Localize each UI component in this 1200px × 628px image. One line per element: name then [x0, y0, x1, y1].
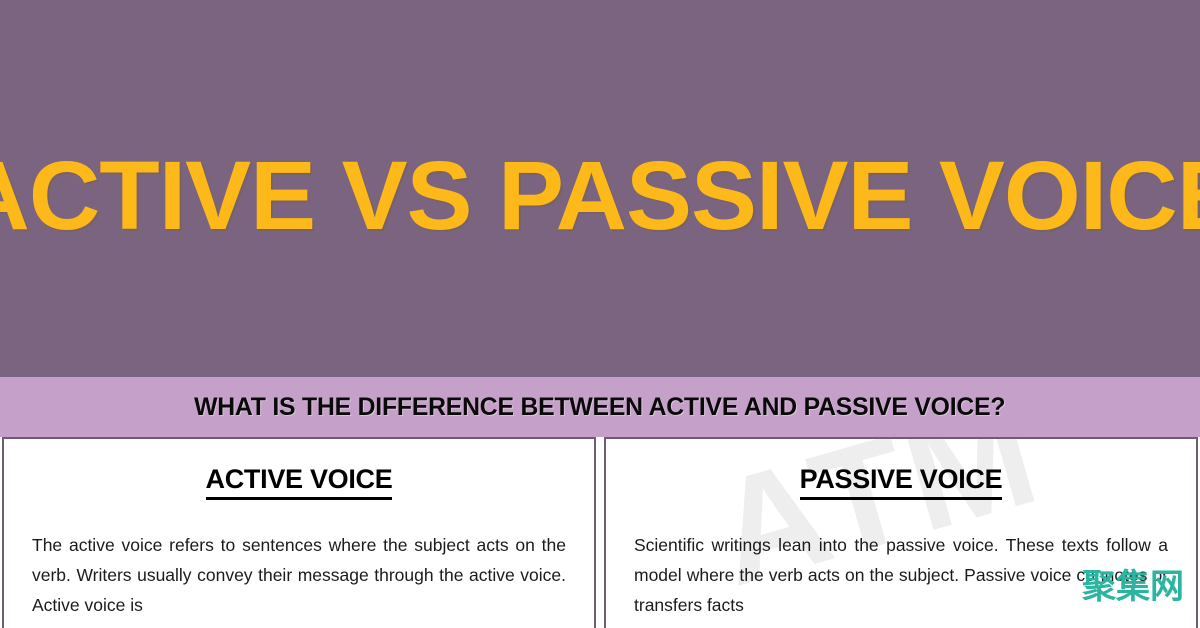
- subtitle-question: WHAT IS THE DIFFERENCE BETWEEN ACTIVE AN…: [194, 395, 1005, 420]
- card-passive-voice: ATM PASSIVE VOICE Scientific writings le…: [604, 437, 1198, 628]
- hero-banner: ACTIVE VS PASSIVE VOICE: [0, 0, 1200, 377]
- card-passive-voice-heading-wrap: PASSIVE VOICE: [634, 465, 1168, 500]
- card-passive-voice-content: PASSIVE VOICE Scientific writings lean i…: [606, 439, 1196, 620]
- card-active-voice: ACTIVE VOICE The active voice refers to …: [2, 437, 596, 628]
- page-title: ACTIVE VS PASSIVE VOICE: [0, 147, 1200, 244]
- card-passive-voice-body: Scientific writings lean into the passiv…: [634, 530, 1168, 620]
- infographic-page: ACTIVE VS PASSIVE VOICE WHAT IS THE DIFF…: [0, 0, 1200, 628]
- subtitle-band: WHAT IS THE DIFFERENCE BETWEEN ACTIVE AN…: [0, 377, 1200, 437]
- card-active-voice-heading-wrap: ACTIVE VOICE: [32, 465, 566, 500]
- comparison-cards: ACTIVE VOICE The active voice refers to …: [0, 437, 1200, 628]
- card-active-voice-content: ACTIVE VOICE The active voice refers to …: [4, 439, 594, 620]
- card-active-voice-body: The active voice refers to sentences whe…: [32, 530, 566, 620]
- card-active-voice-heading: ACTIVE VOICE: [206, 465, 393, 500]
- card-passive-voice-heading: PASSIVE VOICE: [800, 465, 1003, 500]
